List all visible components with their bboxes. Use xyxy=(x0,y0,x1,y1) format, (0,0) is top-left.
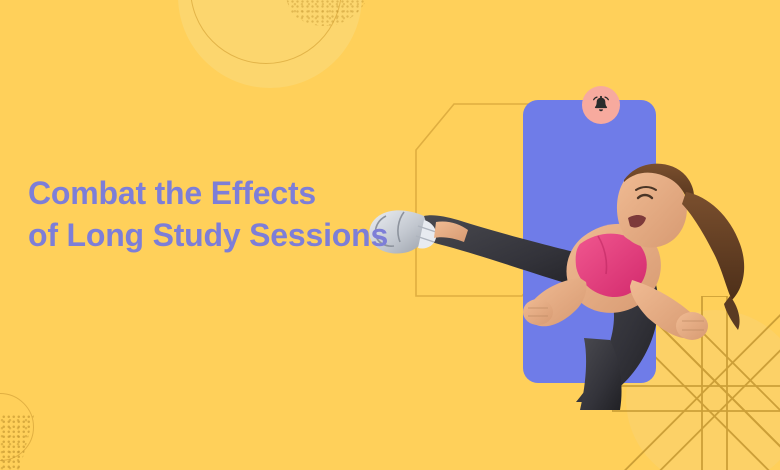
ring-circle-bottom-left xyxy=(0,393,34,461)
alarm-bell-icon xyxy=(591,95,611,115)
sparkle-burst-left xyxy=(0,36,68,166)
grain-texture-top xyxy=(276,0,372,26)
soft-circle-top xyxy=(178,0,362,88)
page-title: Combat the Effects of Long Study Session… xyxy=(28,172,428,256)
promo-banner: Combat the Effects of Long Study Session… xyxy=(0,0,780,470)
grain-texture-bottom-left xyxy=(0,415,34,470)
ring-circle-top xyxy=(190,0,342,64)
alarm-bell-badge[interactable] xyxy=(582,86,620,124)
